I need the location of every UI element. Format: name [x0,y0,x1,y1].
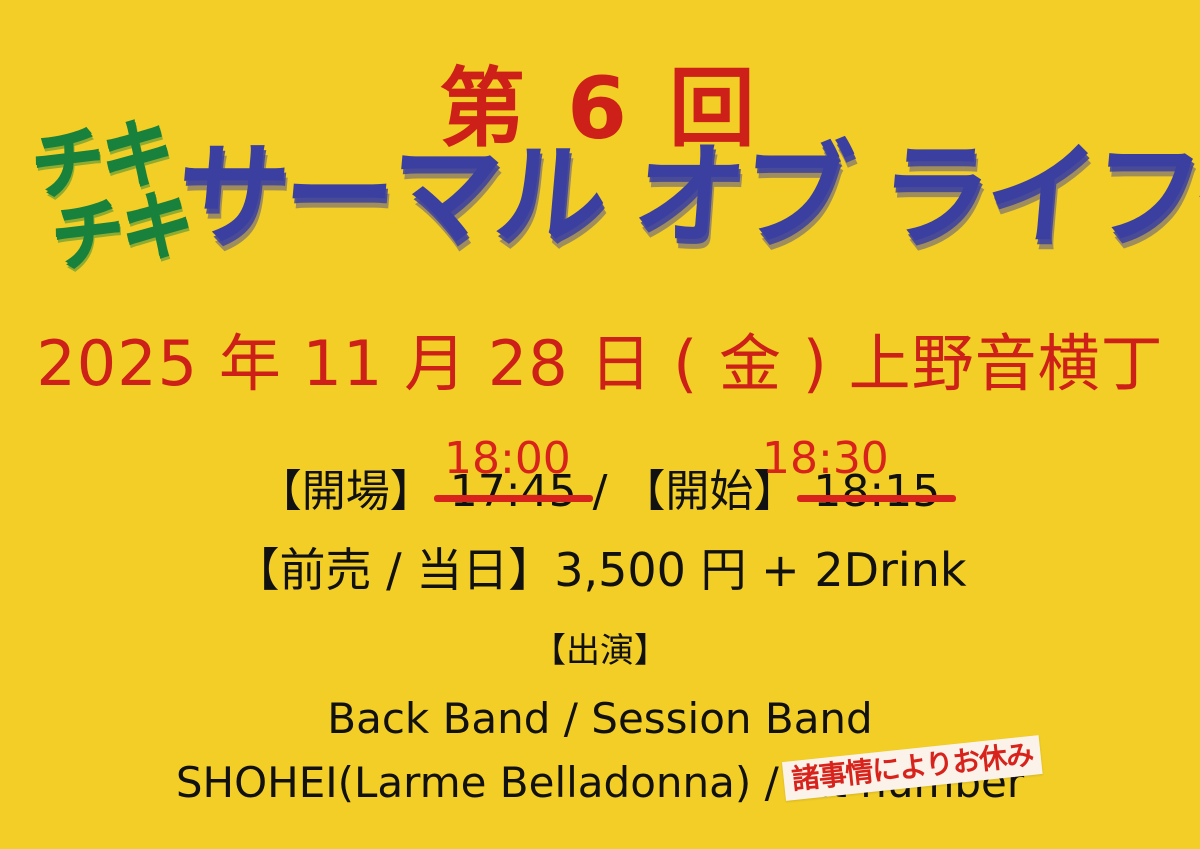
date-venue-line: 2025 年 11 月 28 日 ( 金 ) 上野音横丁 [0,330,1200,398]
schedule-separator: / [593,466,608,517]
strikethrough-bar-open [434,495,593,502]
event-flyer: 第 6 回 チキ チキ サーマル オブ ライフ〜!! 2025 年 11 月 2… [0,0,1200,849]
title-prefix-line-2: チキ [50,185,190,276]
start-time-new: 18:30 [762,437,889,481]
strikethrough-bar-start [797,495,956,502]
event-title: チキ チキ サーマル オブ ライフ〜!! [0,130,1200,320]
lineup-heading: 【出演】 [0,634,1200,668]
open-time-new: 18:00 [444,437,571,481]
schedule-line: 【開場】 17:45 / 【開始】 18:15 18:00 18:30 [0,470,1200,514]
lineup-row: Back Band / Session Band [0,698,1200,740]
title-main-text: サーマル オブ ライフ〜!! [172,140,1200,252]
price-line: 【前売 / 当日】3,500 円 + 2Drink [0,547,1200,593]
open-label: 【開場】 [258,466,434,517]
